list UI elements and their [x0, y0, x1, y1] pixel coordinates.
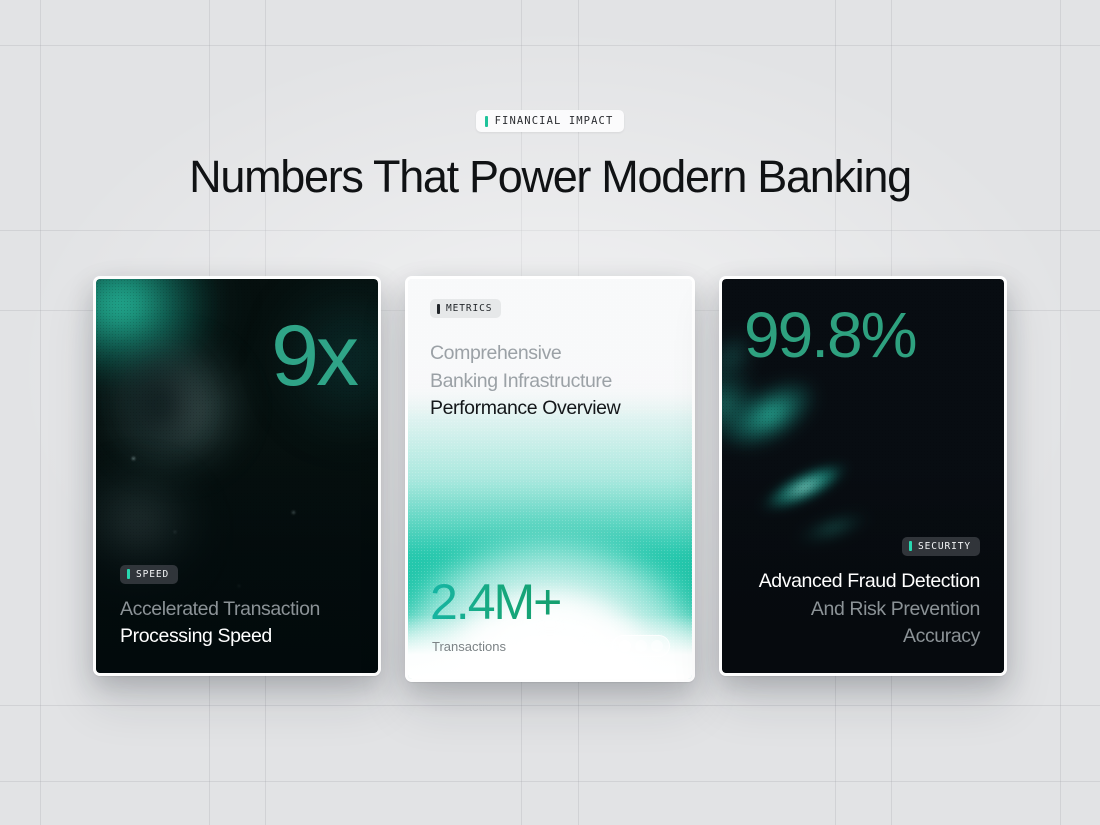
carousel-dot[interactable] [635, 640, 647, 652]
card-headline-dim: And Risk Prevention Accuracy [811, 598, 980, 648]
card-badge-speed: SPEED [120, 565, 178, 584]
accent-bar-icon [909, 541, 912, 551]
section-header: FINANCIAL IMPACT Numbers That Power Mode… [0, 110, 1100, 203]
card-header: METRICS Comprehensive Banking Infrastruc… [430, 299, 670, 423]
accent-bar-icon [485, 116, 488, 127]
card-badge-security: SECURITY [902, 537, 980, 556]
accent-bar-icon [437, 304, 440, 314]
stat-card-speed[interactable]: 9x SPEED Accelerated Transaction Process… [93, 276, 381, 676]
card-headline: Advanced Fraud Detection And Risk Preven… [746, 568, 980, 651]
card-badge-metrics: METRICS [430, 299, 501, 318]
stat-value: 2.4M+ [430, 577, 560, 627]
card-headline-dim: Accelerated Transaction [120, 596, 354, 624]
accent-bar-icon [127, 569, 130, 579]
card-headline: Accelerated Transaction Processing Speed [120, 596, 354, 651]
card-headline-bright: Performance Overview [430, 395, 670, 423]
card-headline-dim-line1: Comprehensive [430, 340, 670, 368]
card-headline-bright: Processing Speed [120, 623, 354, 651]
card-footer: SPEED Accelerated Transaction Processing… [120, 565, 354, 651]
card-surface: 99.8% SECURITY Advanced Fraud Detection … [722, 279, 1004, 673]
card-headline: Comprehensive Banking Infrastructure Per… [430, 340, 670, 423]
card-footer: SECURITY Advanced Fraud Detection And Ri… [746, 537, 980, 651]
card-headline-bright: Advanced Fraud Detection [759, 570, 980, 592]
card-badge-label: SPEED [136, 569, 169, 580]
card-badge-label: SECURITY [918, 541, 971, 552]
carousel-dot[interactable] [651, 640, 663, 652]
stat-card-metrics[interactable]: METRICS Comprehensive Banking Infrastruc… [405, 276, 695, 682]
stat-sublabel: Transactions [432, 639, 506, 654]
carousel-dot-active[interactable] [619, 640, 631, 652]
eyebrow-badge: FINANCIAL IMPACT [476, 110, 625, 132]
eyebrow-label: FINANCIAL IMPACT [495, 115, 614, 127]
card-headline-dim-line2: Banking Infrastructure [430, 368, 670, 396]
stat-card-security[interactable]: 99.8% SECURITY Advanced Fraud Detection … [719, 276, 1007, 676]
page-title: Numbers That Power Modern Banking [0, 151, 1100, 203]
card-surface: 9x SPEED Accelerated Transaction Process… [96, 279, 378, 673]
card-badge-label: METRICS [446, 303, 492, 314]
stat-value: 9x [271, 313, 356, 399]
carousel-dots[interactable] [612, 635, 670, 657]
stat-value: 99.8% [744, 303, 915, 367]
card-surface: METRICS Comprehensive Banking Infrastruc… [408, 279, 692, 679]
